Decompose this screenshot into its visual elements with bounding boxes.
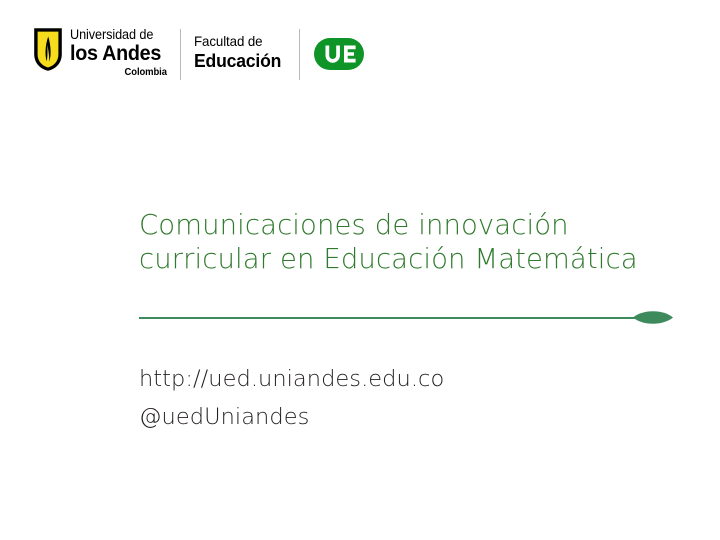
facultad-wordmark: Facultad de Educación bbox=[194, 24, 286, 84]
slide-body: http://ued.uniandes.edu.co @uedUniandes bbox=[139, 360, 589, 436]
uniandes-wordmark: Universidad de los Andes Colombia bbox=[70, 26, 167, 79]
slide-title-line-2: curricular en Educación Matemática bbox=[139, 242, 669, 276]
slide-title-line-1: Comunicaciones de innovación bbox=[139, 208, 669, 242]
website-url[interactable]: http://ued.uniandes.edu.co bbox=[139, 360, 589, 398]
uniandes-line-1: Universidad de bbox=[70, 27, 161, 42]
slide-canvas: Universidad de los Andes Colombia Facult… bbox=[0, 0, 720, 540]
header-divider-2 bbox=[299, 29, 300, 80]
slide-title: Comunicaciones de innovación curricular … bbox=[139, 208, 669, 276]
uniandes-shield-icon bbox=[33, 27, 63, 72]
uniandes-line-2: los Andes bbox=[70, 42, 161, 65]
uniandes-country-label: Colombia bbox=[80, 66, 167, 79]
title-divider-rule bbox=[139, 308, 673, 328]
ued-logo-icon bbox=[314, 38, 364, 70]
facultad-line-1: Facultad de bbox=[194, 33, 281, 50]
twitter-handle[interactable]: @uedUniandes bbox=[139, 398, 589, 436]
facultad-line-2: Educación bbox=[194, 50, 281, 71]
uniandes-lockup: Universidad de los Andes Colombia bbox=[33, 26, 167, 82]
divider-line bbox=[139, 317, 644, 319]
header-divider-1 bbox=[180, 29, 181, 80]
header-logo-bar: Universidad de los Andes Colombia Facult… bbox=[33, 26, 364, 82]
leaf-ornament-icon bbox=[633, 309, 673, 326]
